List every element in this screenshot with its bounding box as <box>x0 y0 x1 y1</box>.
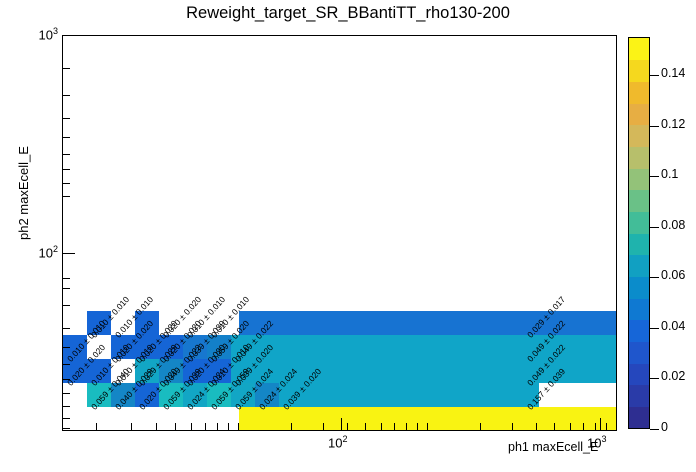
x-axis-minor-tick <box>595 423 596 431</box>
colorbar[interactable] <box>628 37 650 429</box>
colorbar-band <box>629 406 649 428</box>
y-axis-minor-tick <box>62 118 70 119</box>
colorbar-band <box>629 211 649 233</box>
x-axis-minor-tick <box>406 423 407 431</box>
x-axis-minor-tick <box>583 423 584 431</box>
colorbar-band <box>629 125 649 147</box>
x-axis-tick <box>341 418 342 431</box>
heatmap-cell <box>279 383 539 407</box>
y-axis-minor-tick <box>62 154 70 155</box>
x-axis-label: ph1 maxEcell_E <box>508 440 598 454</box>
x-axis-minor-tick <box>394 423 395 431</box>
x-axis-minor-tick <box>417 423 418 431</box>
colorbar-tick-label: 0.06 <box>661 268 685 282</box>
x-axis-tick-label: 102 <box>328 434 347 450</box>
heatmap-cells: 0.010 ± 0.0100.010 ± 0.0100.020 ± 0.0200… <box>63 36 616 430</box>
x-axis-minor-tick <box>323 423 324 431</box>
y-axis-tick <box>62 253 75 254</box>
colorbar-tick <box>650 429 659 430</box>
heatmap-cell <box>63 311 87 335</box>
y-axis-label: ph2 maxEcell_E <box>16 40 31 240</box>
y-axis-minor-tick <box>62 95 70 96</box>
y-axis-minor-tick <box>62 347 70 348</box>
x-axis-minor-tick <box>616 423 617 431</box>
x-axis-minor-tick <box>536 423 537 431</box>
y-axis-minor-tick <box>62 288 70 289</box>
x-axis-minor-tick <box>606 423 607 431</box>
x-axis-minor-tick <box>291 423 292 431</box>
colorbar-tick-label: 0 <box>661 420 668 434</box>
chart-canvas: Reweight_target_SR_BBantiTT_rho130-200 p… <box>0 0 696 472</box>
y-axis-minor-tick <box>62 328 70 329</box>
colorbar-tick-label: 0.12 <box>661 117 685 131</box>
y-axis-tick <box>62 35 75 36</box>
x-axis-minor-tick <box>480 423 481 431</box>
y-axis-minor-tick <box>62 393 70 394</box>
colorbar-band <box>629 298 649 320</box>
colorbar-tick <box>650 277 659 278</box>
y-axis-minor-tick <box>62 278 70 279</box>
x-axis-minor-tick <box>570 423 571 431</box>
x-axis-minor-tick <box>175 423 176 431</box>
x-axis-minor-tick <box>217 423 218 431</box>
heatmap-cell <box>63 383 87 407</box>
colorbar-tick <box>650 176 659 177</box>
colorbar-tick-label: 0.14 <box>661 66 685 80</box>
x-axis-tick <box>600 418 601 431</box>
y-axis-minor-tick <box>62 406 70 407</box>
colorbar-tick <box>650 75 659 76</box>
colorbar-band <box>629 233 649 255</box>
colorbar-tick-label: 0.04 <box>661 319 685 333</box>
x-axis-minor-tick <box>191 423 192 431</box>
x-axis-minor-tick <box>365 423 366 431</box>
y-axis-minor-tick <box>62 364 70 365</box>
x-axis-minor-tick <box>131 423 132 431</box>
x-axis-minor-tick <box>512 423 513 431</box>
colorbar-tick <box>650 378 659 379</box>
x-axis-minor-tick <box>228 423 229 431</box>
colorbar-band <box>629 146 649 168</box>
colorbar-band <box>629 60 649 82</box>
colorbar-band <box>629 168 649 190</box>
colorbar-band <box>629 385 649 407</box>
y-axis-minor-tick <box>62 137 70 138</box>
x-axis-minor-tick <box>96 423 97 431</box>
colorbar-band <box>629 38 649 60</box>
colorbar-band <box>629 103 649 125</box>
x-axis-minor-tick <box>238 423 239 431</box>
y-axis-tick-label: 102 <box>18 244 58 260</box>
y-axis-minor-tick <box>62 305 70 306</box>
y-axis-tick-label: 103 <box>18 26 58 42</box>
page-title: Reweight_target_SR_BBantiTT_rho130-200 <box>0 4 696 23</box>
colorbar-band <box>629 255 649 277</box>
y-axis-minor-tick <box>62 183 70 184</box>
x-axis-minor-tick <box>381 423 382 431</box>
colorbar-tick-label: 0.1 <box>661 167 678 181</box>
heatmap-cell <box>63 407 239 430</box>
colorbar-tick <box>650 227 659 228</box>
colorbar-band <box>629 363 649 385</box>
colorbar-band <box>629 81 649 103</box>
x-axis-minor-tick <box>554 423 555 431</box>
x-axis-minor-tick <box>156 423 157 431</box>
x-axis-minor-tick <box>347 423 348 431</box>
colorbar-band <box>629 190 649 212</box>
colorbar-band <box>629 276 649 298</box>
y-axis-minor-tick <box>62 169 70 170</box>
plot-frame: 0.010 ± 0.0100.010 ± 0.0100.020 ± 0.0200… <box>62 35 617 431</box>
x-axis-minor-tick <box>427 423 428 431</box>
colorbar-tick <box>650 328 659 329</box>
y-axis-minor-tick <box>62 418 70 419</box>
colorbar-band <box>629 341 649 363</box>
colorbar-band <box>629 320 649 342</box>
y-axis-minor-tick <box>62 68 70 69</box>
x-axis-tick-label: 103 <box>587 434 606 450</box>
colorbar-tick-label: 0.08 <box>661 218 685 232</box>
x-axis-minor-tick <box>205 423 206 431</box>
colorbar-tick-label: 0.02 <box>661 369 685 383</box>
colorbar-tick <box>650 126 659 127</box>
y-axis-minor-tick <box>62 379 70 380</box>
y-axis-minor-tick <box>62 196 70 197</box>
y-axis-minor-tick <box>62 428 70 429</box>
